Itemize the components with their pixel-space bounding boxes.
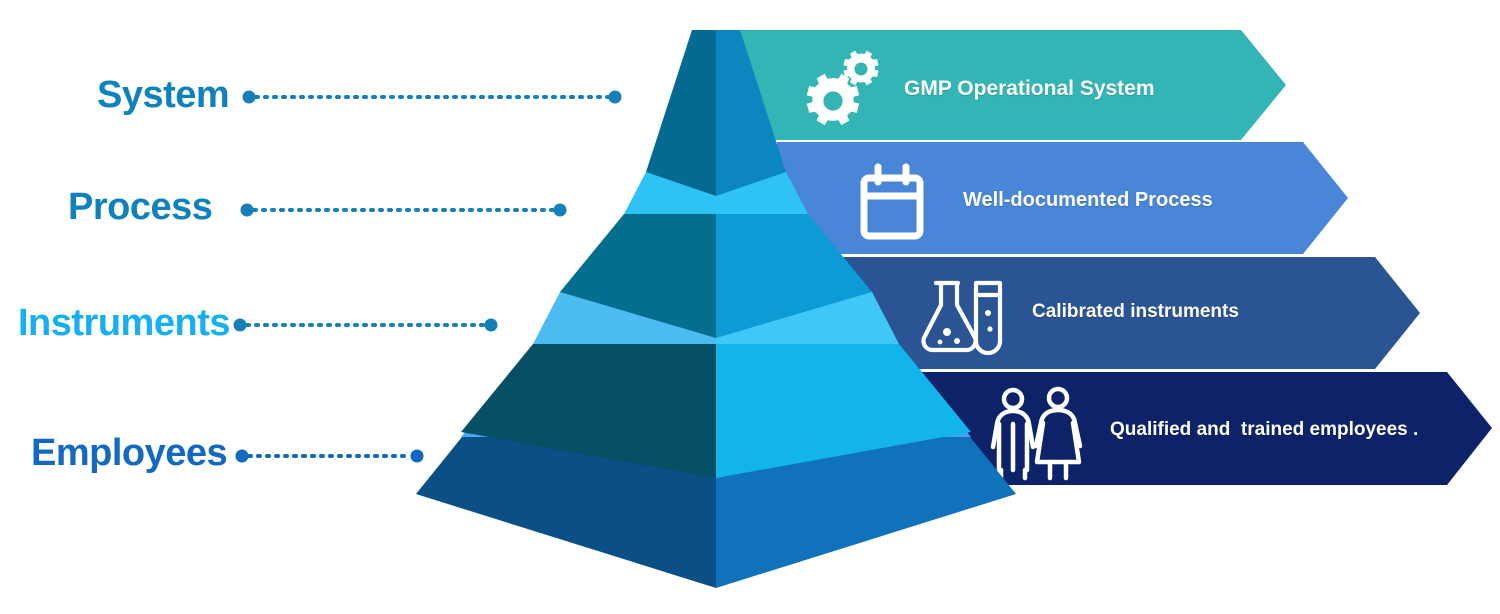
connector-instruments [234,319,498,332]
banner-label-well-documented-process: Well-documented Process [963,190,1213,210]
connector-employees [236,450,424,463]
label-employees: Employees [31,434,227,472]
banner-label-calibrated-instruments: Calibrated instruments [1032,302,1239,321]
connector-system [243,91,622,104]
label-instruments: Instruments [18,304,230,342]
label-system: System [97,76,229,114]
label-process: Process [68,188,212,226]
banner-label-gmp-operational-system: GMP Operational System [904,78,1155,99]
connector-process [241,204,567,217]
banner-label-qualified-trained-employees: Qualified and trained employees . [1110,420,1418,439]
gmp-pyramid-diagram: System Process Instruments Employees GMP… [0,0,1500,614]
